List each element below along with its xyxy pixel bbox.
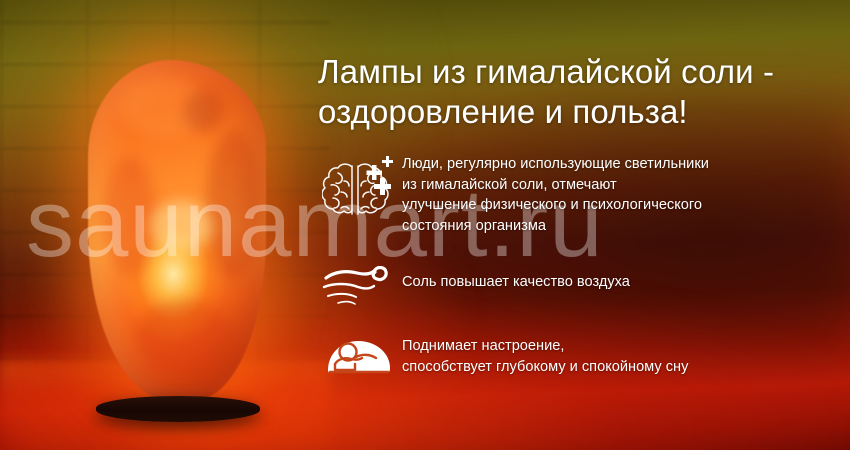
promo-banner: saunamart.ru Лампы из гималайской соли -… bbox=[0, 0, 850, 450]
sleep-icon bbox=[318, 330, 402, 384]
list-item: Соль повышает качество воздуха bbox=[318, 258, 838, 308]
list-item: Люди, регулярно использующие светильники… bbox=[318, 152, 838, 236]
rock-glow-core bbox=[150, 200, 212, 252]
list-item-text: Поднимает настроение, способствует глубо… bbox=[402, 328, 838, 377]
brain-icon bbox=[318, 154, 402, 220]
lamp-base bbox=[96, 396, 260, 422]
feature-list: Люди, регулярно использующие светильники… bbox=[318, 152, 838, 384]
rock-facet bbox=[104, 156, 156, 276]
salt-lamp-image bbox=[78, 60, 278, 430]
lamp-rock bbox=[88, 60, 266, 400]
page-title: Лампы из гималайской соли - оздоровление… bbox=[318, 52, 838, 133]
list-item-text: Соль повышает качество воздуха bbox=[402, 258, 838, 293]
list-item-text: Люди, регулярно использующие светильники… bbox=[402, 152, 838, 236]
rock-facet bbox=[136, 300, 232, 372]
list-item: Поднимает настроение, способствует глубо… bbox=[318, 328, 838, 384]
rock-facet bbox=[206, 130, 262, 280]
wind-icon bbox=[318, 266, 402, 308]
rock-facet bbox=[184, 90, 224, 132]
